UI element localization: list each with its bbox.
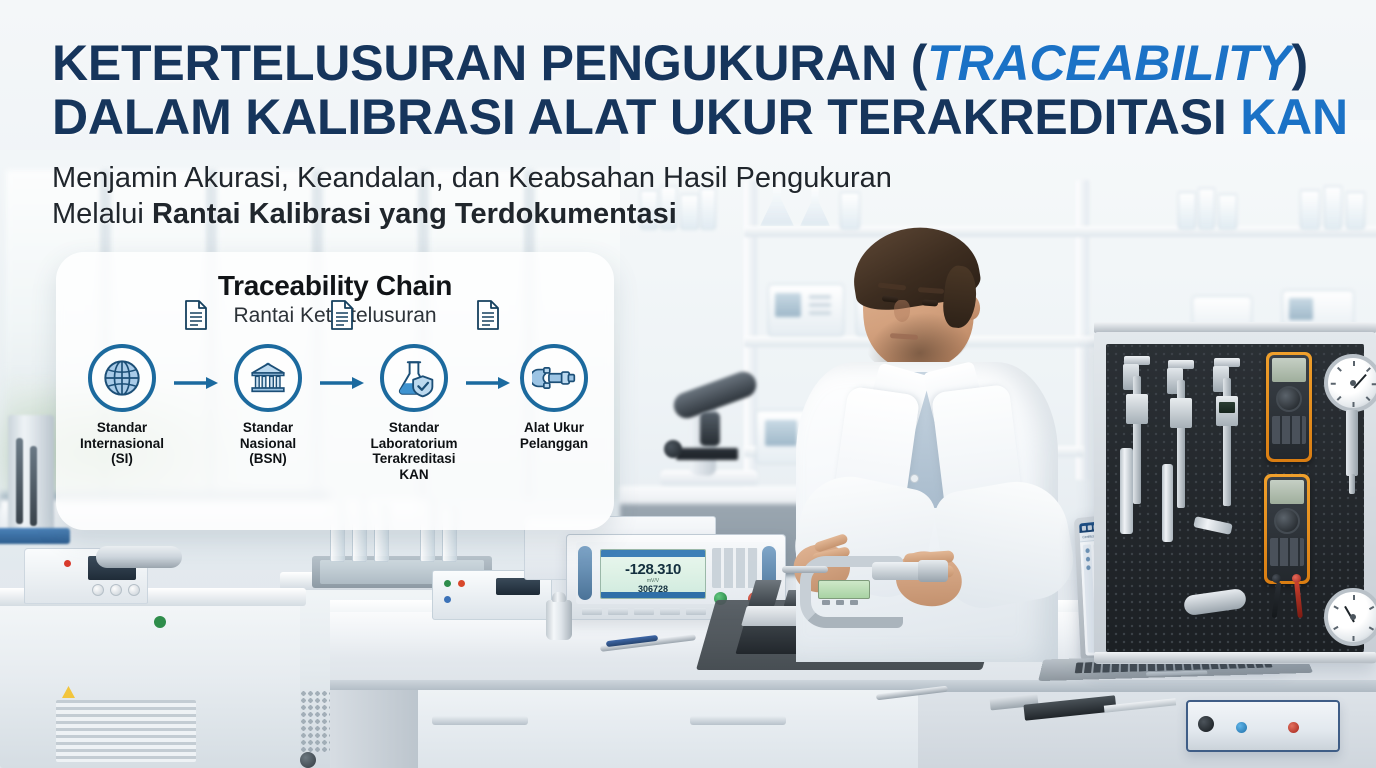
power-supply-display — [496, 578, 540, 595]
sidebar-icon[interactable] — [1085, 557, 1089, 562]
chain-document-1 — [184, 300, 208, 330]
dial-indicator — [1324, 354, 1376, 412]
chain-node-accredited-lab[interactable]: StandarLaboratoriumTerakreditasi KAN — [366, 344, 462, 482]
chain-node-international-standard[interactable]: StandarInternasional(SI) — [74, 344, 170, 467]
digital-micrometer — [800, 546, 950, 608]
chain-document-3 — [476, 300, 500, 330]
power-supply-led — [444, 580, 451, 587]
document-icon — [184, 300, 208, 330]
glassware — [1346, 192, 1365, 230]
pin-gauge — [1162, 464, 1173, 542]
bench-leg — [330, 690, 418, 768]
calibrator-knob — [128, 584, 140, 596]
module-input-jack — [1288, 722, 1299, 733]
power-led — [154, 616, 166, 628]
coat-button — [910, 474, 919, 483]
sidebar-icon[interactable] — [1085, 548, 1089, 553]
multimeter-display — [1270, 480, 1304, 504]
pin-gauge — [1120, 448, 1133, 534]
headline-line1-part1: KETERTELUSURAN PENGUKURAN ( — [52, 35, 927, 91]
subtitle-line2-prefix: Melalui — [52, 198, 152, 230]
microscope-focus-knob — [664, 440, 682, 458]
lab-stand-pin — [16, 438, 23, 524]
calibrator-knob — [92, 584, 104, 596]
page-subtitle: Menjamin Akurasi, Keandalan, dan Keabsah… — [52, 160, 1052, 232]
multimeter-dial — [1274, 508, 1300, 534]
flask-shield-icon — [380, 344, 448, 412]
micrometer-zero-button — [822, 600, 830, 605]
sidebar-icon[interactable] — [1086, 565, 1090, 570]
calibrator-knob — [110, 584, 122, 596]
dial-indicator-face — [1324, 354, 1376, 412]
dial-indicator-tip — [1349, 474, 1355, 494]
chain-node-label: Alat UkurPelanggan — [506, 420, 602, 451]
laptop-trackpad[interactable] — [1146, 670, 1207, 676]
headline-kan-emphasis: KAN — [1240, 89, 1348, 145]
headline-line1-part2: ) — [1291, 35, 1307, 91]
chain-node-national-standard[interactable]: StandarNasional(BSN) — [220, 344, 316, 467]
glassware — [1198, 188, 1215, 230]
chain-connector-2 — [320, 376, 364, 388]
globe-icon-svg — [102, 358, 142, 398]
wrench-tool — [1193, 516, 1232, 535]
calibrator-screen: -128.310 mV/V 306728 — [600, 549, 706, 599]
calibrator-handle — [578, 546, 592, 600]
chain-connector-3 — [466, 376, 510, 388]
multimeter-keypad — [1272, 416, 1306, 444]
glassware — [1324, 186, 1342, 230]
globe-icon — [88, 344, 156, 412]
module-selector-knob — [1198, 716, 1214, 732]
status-led — [64, 560, 71, 567]
card-title: Traceability Chain — [56, 270, 614, 302]
power-supply-led — [458, 580, 465, 587]
drawer-handle — [690, 716, 786, 725]
module-input-jack — [1236, 722, 1247, 733]
calibration-weight-knob — [552, 592, 566, 602]
app-logo-icon — [1082, 525, 1086, 530]
micrometer-unit-button — [836, 600, 844, 605]
glassware — [1300, 190, 1320, 230]
document-icon — [330, 300, 354, 330]
drawer-handle — [432, 716, 528, 725]
test-probe — [1272, 582, 1282, 618]
lab-stand-base — [0, 528, 70, 544]
bench-drawer-front — [418, 690, 918, 768]
subtitle-line1: Menjamin Akurasi, Keandalan, dan Keabsah… — [52, 162, 892, 194]
dial-indicator-face — [1324, 588, 1376, 646]
microscope-stage — [676, 448, 738, 460]
dial-indicator-stem — [1346, 410, 1358, 476]
arrow-right-icon — [466, 377, 510, 389]
glassware — [1178, 192, 1196, 230]
flask-shield-icon-svg — [393, 357, 435, 399]
tool-board-frame — [1094, 332, 1376, 664]
headline-traceability-emphasis: TRACEABILITY — [927, 35, 1291, 91]
chiller-vent — [56, 700, 196, 762]
arrow-right-icon — [174, 377, 218, 389]
subtitle-line2-emphasis: Rantai Kalibrasi yang Terdokumentasi — [152, 198, 677, 230]
digital-multimeter — [1266, 352, 1312, 462]
multimeter-keypad — [1270, 538, 1304, 566]
technician-nose — [894, 300, 910, 322]
multimeter-dial — [1276, 386, 1302, 412]
calibrator-function-key — [686, 608, 706, 615]
chain-node-label: StandarLaboratoriumTerakreditasi KAN — [366, 420, 462, 482]
micrometer-thimble — [918, 560, 948, 582]
lab-stand-pin — [30, 446, 37, 526]
shelf-post — [1076, 180, 1089, 480]
infographic-canvas: -128.310 mV/V 306728 — [0, 0, 1376, 768]
power-supply-led — [444, 596, 451, 603]
dial-indicator — [1324, 588, 1376, 646]
glassware — [1218, 194, 1237, 230]
calibrator-function-key — [608, 608, 628, 615]
chain-node-label: StandarInternasional(SI) — [74, 420, 170, 467]
page-title: KETERTELUSURAN PENGUKURAN (TRACEABILITY)… — [52, 36, 1352, 144]
document-icon — [476, 300, 500, 330]
arrow-right-icon — [320, 377, 364, 389]
calibrator-function-key — [582, 608, 602, 615]
micrometer-anvil — [782, 566, 828, 573]
calibrator-function-key — [660, 608, 680, 615]
microscope-objective — [700, 412, 720, 446]
multimeter-display — [1272, 358, 1306, 382]
micrometer-display — [818, 580, 870, 599]
chain-connector-1 — [174, 376, 218, 388]
chain-node-customer-instrument[interactable]: Alat UkurPelanggan — [506, 344, 602, 451]
technician-eye — [922, 299, 938, 306]
chain-node-label: StandarNasional(BSN) — [220, 420, 316, 467]
micrometer-icon-svg — [532, 358, 576, 398]
traceability-chain: StandarInternasional(SI) — [74, 344, 596, 520]
calibration-weight — [546, 600, 572, 640]
calibration-gauge-pin — [96, 546, 182, 568]
micrometer-hold-button — [850, 600, 858, 605]
institution-icon-svg — [248, 358, 288, 398]
calibrator-reading: -128.310 — [601, 561, 705, 578]
test-probe — [1294, 582, 1303, 618]
calibrator-keypad — [712, 548, 758, 588]
traceability-chain-card: Traceability Chain Rantai Ketertelusuran — [56, 252, 614, 530]
micrometer-icon — [520, 344, 588, 412]
institution-icon — [234, 344, 302, 412]
calibrator-function-key — [634, 608, 654, 615]
digital-multimeter — [1264, 474, 1310, 584]
menu-icon — [1088, 525, 1092, 530]
chain-document-2 — [330, 300, 354, 330]
caster-wheel — [300, 752, 316, 768]
headline-line2-part1: DALAM KALIBRASI ALAT UKUR TERAKREDITASI — [52, 89, 1240, 145]
board-rail-bottom — [1094, 652, 1376, 663]
